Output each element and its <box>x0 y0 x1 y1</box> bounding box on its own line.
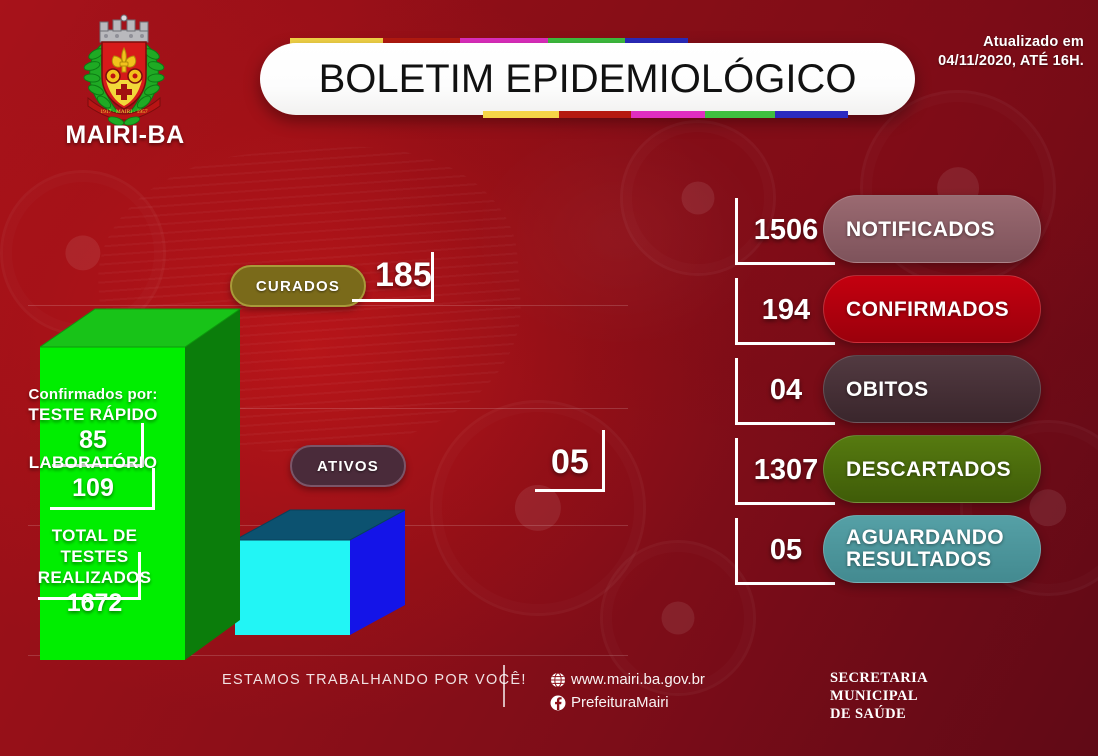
stat-row-descartados[interactable]: 1307 DESCARTADOS <box>735 435 1085 505</box>
title-pill: BOLETIM EPIDEMIOLÓGICO <box>260 43 915 115</box>
stat-value-descartados: 1307 <box>745 435 827 505</box>
footer-divider <box>503 665 505 707</box>
poster-title: BOLETIM EPIDEMIOLÓGICO <box>319 57 857 102</box>
stat-label-obitos: OBITOS <box>846 378 929 401</box>
stat-label-descartados: DESCARTADOS <box>846 458 1011 481</box>
bar-label-ativos-text: ATIVOS <box>317 458 379 475</box>
footer-website-line[interactable]: www.mairi.ba.gov.br <box>550 668 705 691</box>
footer-website-text: www.mairi.ba.gov.br <box>571 668 705 691</box>
stat-value-notificados: 1506 <box>745 195 827 265</box>
stat-pill-confirmados[interactable]: CONFIRMADOS <box>823 275 1041 343</box>
left-bracket-total-testes <box>38 552 141 600</box>
stat-pill-notificados[interactable]: NOTIFICADOS <box>823 195 1041 263</box>
title-banner: BOLETIM EPIDEMIOLÓGICO <box>255 35 925 130</box>
secretaria-line3: DE SAÚDE <box>830 705 970 723</box>
stat-pill-aguardando[interactable]: AGUARDANDO RESULTADOS <box>823 515 1041 583</box>
stat-label-aguardando: AGUARDANDO RESULTADOS <box>846 527 1040 571</box>
footer-facebook-text: PrefeituraMairi <box>571 691 669 714</box>
footer-contact: www.mairi.ba.gov.br PrefeituraMairi <box>550 668 705 714</box>
stat-pill-obitos[interactable]: OBITOS <box>823 355 1041 423</box>
epidemiological-bulletin-poster: 1917 · MAIRI · 1957 MAIRI-BA BOLETIM EPI… <box>0 0 1098 756</box>
left-stat-0-line2: TESTE RÁPIDO <box>28 404 158 425</box>
stripe-bottom-green <box>705 111 775 118</box>
stat-label-notificados: NOTIFICADOS <box>846 218 995 241</box>
globe-icon <box>550 672 566 688</box>
svg-text:1917 · MAIRI · 1957: 1917 · MAIRI · 1957 <box>100 109 148 115</box>
bar-bracket-ativos <box>535 430 605 492</box>
poster-footer: ESTAMOS TRABALHANDO POR VOCÊ! www.mairi.… <box>0 665 1098 756</box>
stat-row-notificados[interactable]: 1506 NOTIFICADOS <box>735 195 1085 265</box>
summary-stats-panel: 1506 NOTIFICADOS 194 CONFIRMADOS 04 OBIT… <box>735 195 1085 615</box>
updated-timestamp: Atualizado em 04/11/2020, ATÉ 16H. <box>938 33 1084 71</box>
stat-value-confirmados: 194 <box>745 275 827 345</box>
stripe-bottom-yellow <box>483 111 559 118</box>
updated-label: Atualizado em <box>938 33 1084 52</box>
footer-slogan: ESTAMOS TRABALHANDO POR VOCÊ! <box>222 672 527 688</box>
left-bracket-laboratorio <box>50 468 155 510</box>
cases-bar-chart: CURADOS 185 ATIVOS 05 Confirmados por: T… <box>0 140 700 680</box>
stat-value-obitos: 04 <box>745 355 827 425</box>
stripe-bottom-blue <box>775 111 848 118</box>
stat-value-aguardando: 05 <box>745 515 827 585</box>
bar-label-curados-text: CURADOS <box>256 278 340 295</box>
left-stat-0-line1: Confirmados por: <box>28 385 158 404</box>
secretaria-line2: MUNICIPAL <box>830 687 970 705</box>
bar-label-ativos: ATIVOS <box>290 445 406 487</box>
stat-row-aguardando[interactable]: 05 AGUARDANDO RESULTADOS <box>735 515 1085 585</box>
stripe-bottom-red <box>559 111 631 118</box>
footer-facebook-line[interactable]: PrefeituraMairi <box>550 691 705 714</box>
footer-secretaria: SECRETARIA MUNICIPAL DE SAÚDE <box>830 669 970 723</box>
bar-curados-side <box>185 309 240 660</box>
stat-row-confirmados[interactable]: 194 CONFIRMADOS <box>735 275 1085 345</box>
bar-label-curados: CURADOS <box>230 265 366 307</box>
mairi-coat-of-arms-icon: 1917 · MAIRI · 1957 <box>72 14 176 126</box>
stat-row-obitos[interactable]: 04 OBITOS <box>735 355 1085 425</box>
stat-label-confirmados: CONFIRMADOS <box>846 298 1009 321</box>
bar-bracket-curados <box>352 252 434 302</box>
facebook-icon <box>550 695 566 711</box>
secretaria-line1: SECRETARIA <box>830 669 970 687</box>
poster-header: 1917 · MAIRI · 1957 MAIRI-BA BOLETIM EPI… <box>0 0 1098 140</box>
stripe-bottom-magenta <box>631 111 705 118</box>
stat-pill-descartados[interactable]: DESCARTADOS <box>823 435 1041 503</box>
updated-value: 04/11/2020, ATÉ 16H. <box>938 52 1084 71</box>
